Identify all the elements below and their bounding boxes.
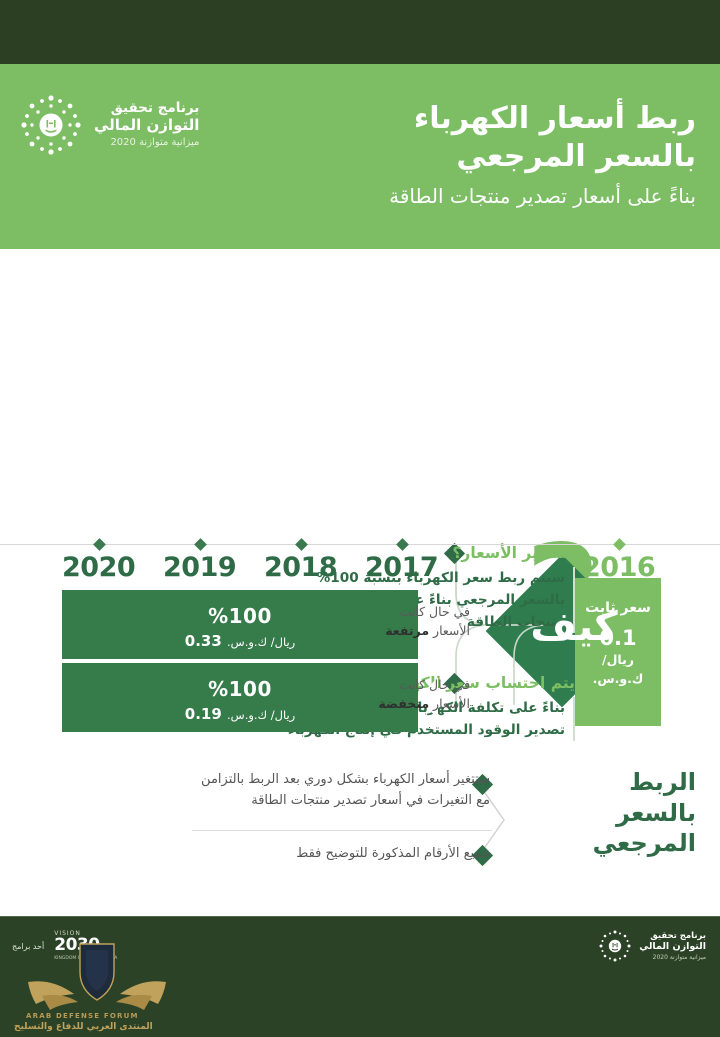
scenario-high-unit: ريال/ ك.و.س. <box>227 635 295 649</box>
scenario-low-number: 0.19 <box>185 705 222 723</box>
timeline-year-2018: 2018 <box>264 552 337 583</box>
timeline-marker-2018 <box>295 538 308 551</box>
scenario-low-note: في حال كانت الأسعار منخفضة <box>360 676 470 714</box>
brand-line-2: التوازن المالي <box>94 117 199 135</box>
header-brand-logo: برنامج تحقيق التوازن المالي ميزانية متوا… <box>18 92 199 158</box>
reference-price-heading: الربط بالسعر المرجعي <box>516 767 696 859</box>
footer-brand-line-1: برنامج تحقيق <box>639 931 706 941</box>
bottom-note-1: ستتغير أسعار الكهرباء بشكل دوري بعد الرب… <box>190 769 490 811</box>
scenario-high-note: في حال كانت الأسعار مرتفعة <box>360 603 470 641</box>
scenario-high-note-label: الأسعار <box>433 623 470 638</box>
scenario-low-note-line1: في حال كانت <box>400 677 470 692</box>
scenario-low-note-emphasis: منخفضة <box>378 696 429 711</box>
saudi-emblem-rosette-icon <box>18 92 84 158</box>
watermark-arabic: المنتدى العربي للدفاع والتسليح <box>14 1022 153 1032</box>
scenario-high-note-line1: في حال كانت <box>400 604 470 619</box>
bottom-section: الربط بالسعر المرجعي ستتغير أسعار الكهرب… <box>0 755 720 900</box>
page-title: ربط أسعار الكهرباء بالسعر المرجعي بناءً … <box>226 100 696 209</box>
reference-price-heading-line2: بالسعر <box>516 798 696 829</box>
scenario-low-note-label: الأسعار <box>433 696 470 711</box>
reference-price-box: سعر ثابت 0.1 ريال/ ك.و.س. <box>575 578 661 726</box>
timeline-marker-2019 <box>194 538 207 551</box>
reference-price-unit-2: ك.و.س. <box>575 671 661 688</box>
timeline-year-2019: 2019 <box>163 552 236 583</box>
brand-line-3: ميزانية متوازنة 2020 <box>94 137 199 149</box>
bottom-note-2: جميع الأرقام المذكورة للتوضيح فقط <box>190 843 490 864</box>
scenario-low-unit: ريال/ ك.و.س. <box>227 708 295 722</box>
footer-brand-line-2: التوازن المالي <box>639 941 706 952</box>
title-line-1: ربط أسعار الكهرباء <box>226 100 696 138</box>
footer-brand-logo: برنامج تحقيق التوازن المالي ميزانية متوا… <box>598 929 706 963</box>
timeline-marker-2017 <box>396 538 409 551</box>
saudi-emblem-rosette-icon <box>598 929 632 963</box>
scenario-high-note-emphasis: مرتفعة <box>385 623 429 638</box>
watermark-english: ARAB DEFENSE FORUM <box>26 1012 139 1020</box>
how-section: ؟ كيف ستتغير الأسعار؟ سيتم ربط سعر الكهر… <box>0 249 720 528</box>
brand-line-1: برنامج تحقيق <box>94 101 199 117</box>
reference-price-heading-line3: المرجعي <box>516 828 696 859</box>
reference-price-heading-line1: الربط <box>516 767 696 798</box>
timeline-year-2020: 2020 <box>62 552 135 583</box>
bottom-note-divider <box>192 830 492 831</box>
page-header: برنامج تحقيق التوازن المالي ميزانية متوا… <box>0 64 720 249</box>
watermark-zone: ARAB DEFENSE FORUM المنتدى العربي للدفاع… <box>0 978 720 1037</box>
timeline-marker-2020 <box>93 538 106 551</box>
top-accent-bar <box>0 0 720 64</box>
timeline-marker-2016 <box>613 538 626 551</box>
page-subtitle: بناءً على أسعار تصدير منتجات الطاقة <box>226 183 696 209</box>
scenario-high-number: 0.33 <box>185 632 222 650</box>
title-line-2: بالسعر المرجعي <box>226 138 696 176</box>
timeline-year-2017: 2017 <box>365 552 438 583</box>
footer-brand-line-3: ميزانية متوازنة 2020 <box>639 954 706 961</box>
reference-price-unit-1: ريال/ <box>575 652 661 669</box>
how-badge-label: كيف <box>504 607 644 647</box>
